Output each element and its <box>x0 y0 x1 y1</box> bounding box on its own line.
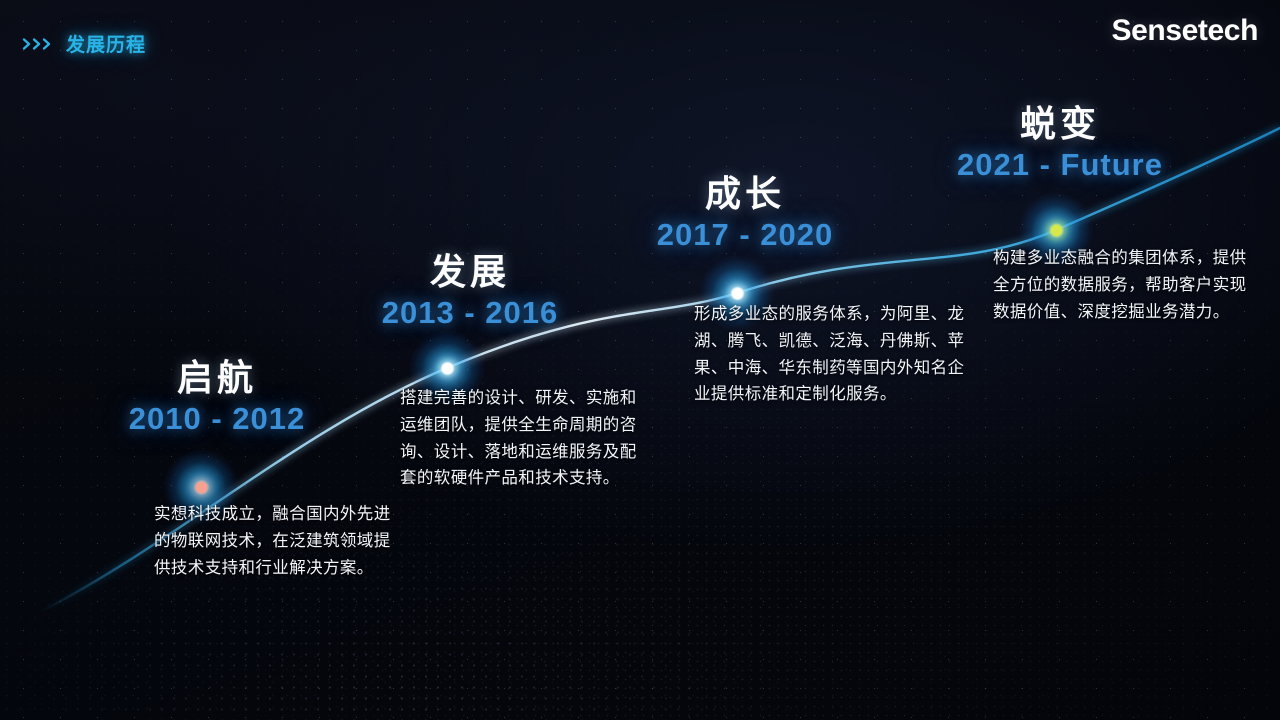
page-title: 发展历程 <box>66 30 146 57</box>
milestone-1-title: 启航 <box>92 358 342 398</box>
milestone-4-heading: 蜕变 2021 - Future <box>935 104 1185 185</box>
milestone-2: 发展 2013 - 2016 搭建完善的设计、研发、实施和运维团队，提供全生命周… <box>345 252 595 492</box>
triple-chevron-right-icon <box>22 37 56 51</box>
milestone-2-description: 搭建完善的设计、研发、实施和运维团队，提供全生命周期的咨询、设计、落地和运维服务… <box>400 385 650 492</box>
milestone-1-years: 2010 - 2012 <box>92 400 342 439</box>
milestone-4-years: 2021 - Future <box>935 146 1185 185</box>
milestone-1: 启航 2010 - 2012 实想科技成立，融合国内外先进的物联网技术，在泛建筑… <box>92 358 342 581</box>
milestone-3: 成长 2017 - 2020 形成多业态的服务体系，为阿里、龙湖、腾飞、凯德、泛… <box>620 174 870 408</box>
milestone-4-title: 蜕变 <box>935 104 1185 144</box>
slide-header: 发展历程 <box>22 30 146 57</box>
milestone-2-years: 2013 - 2016 <box>345 294 595 333</box>
milestone-3-description: 形成多业态的服务体系，为阿里、龙湖、腾飞、凯德、泛海、丹佛斯、苹果、中海、华东制… <box>694 301 969 408</box>
brand-logo: Sensetech <box>1112 14 1258 48</box>
milestone-1-heading: 启航 2010 - 2012 <box>92 358 342 439</box>
milestone-1-description: 实想科技成立，融合国内外先进的物联网技术，在泛建筑领域提供技术支持和行业解决方案… <box>154 501 404 581</box>
milestone-3-heading: 成长 2017 - 2020 <box>620 174 870 255</box>
milestone-2-heading: 发展 2013 - 2016 <box>345 252 595 333</box>
milestone-3-years: 2017 - 2020 <box>620 216 870 255</box>
milestone-4-description: 构建多业态融合的集团体系，提供全方位的数据服务，帮助客户实现数据价值、深度挖掘业… <box>993 245 1255 325</box>
slide-canvas: 发展历程 Sensetech 启航 2010 - 2012 实想科技成立，融合国… <box>0 0 1280 720</box>
milestone-3-title: 成长 <box>620 174 870 214</box>
milestone-4: 蜕变 2021 - Future 构建多业态融合的集团体系，提供全方位的数据服务… <box>935 104 1185 325</box>
milestone-2-title: 发展 <box>345 252 595 292</box>
